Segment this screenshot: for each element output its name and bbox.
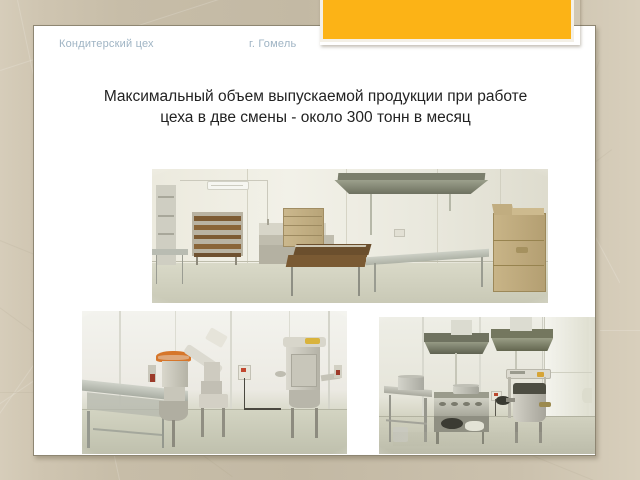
slide-title-line-2: цеха в две смены - около 300 тонн в меся…: [44, 107, 587, 128]
slide-title: Максимальный объем выпускаемой продукции…: [44, 86, 587, 128]
header-label-workshop: Кондитерский цех: [59, 38, 154, 50]
slide-title-line-1: Максимальный объем выпускаемой продукции…: [104, 88, 527, 105]
slide-canvas: Кондитерский цех г. Гомель Максимальный …: [0, 0, 640, 480]
header-label-city: г. Гомель: [249, 38, 296, 50]
photo-cooking-zone: [379, 317, 596, 454]
slide-content-panel: Кондитерский цех г. Гомель Максимальный …: [33, 25, 596, 456]
photo-production-hall: [152, 169, 548, 303]
orange-accent-block: [320, 0, 574, 42]
photo-dough-mixers: [82, 311, 347, 454]
